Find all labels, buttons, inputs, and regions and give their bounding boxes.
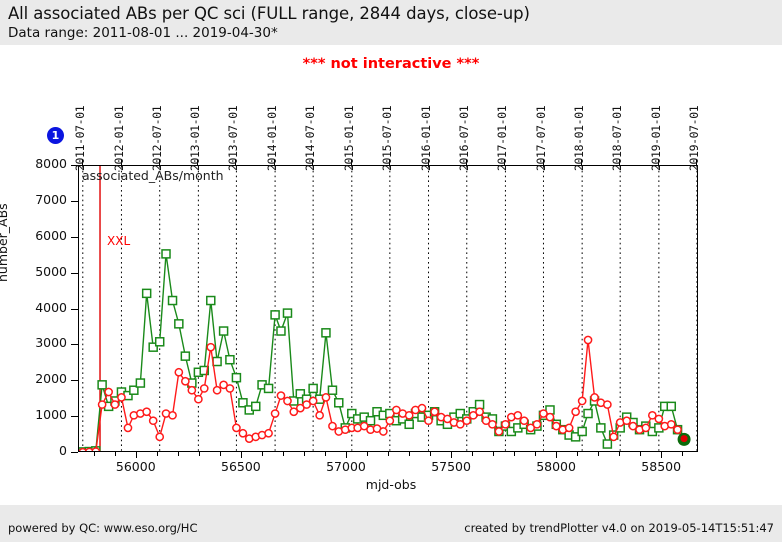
data-point-marker	[150, 417, 157, 424]
page-subtitle: Data range: 2011-08-01 ... 2019-04-30*	[8, 24, 782, 43]
data-point-marker	[118, 394, 125, 401]
x-axis-minor-tick	[367, 452, 368, 456]
data-point-marker	[169, 297, 177, 305]
y-axis-tick-label: 8000	[5, 156, 67, 171]
x-axis-tick-label: 58000	[516, 459, 596, 474]
x-axis-minor-tick	[262, 452, 263, 456]
data-point-marker	[604, 401, 611, 408]
last-point-highlight	[681, 435, 688, 442]
data-point-marker	[284, 397, 291, 404]
x-axis-minor-tick	[640, 452, 641, 456]
x-axis-minor-tick	[535, 452, 536, 456]
data-point-marker	[226, 356, 234, 364]
data-point-marker	[92, 448, 99, 451]
footer-credit-right: created by trendPlotter v4.0 on 2019-05-…	[464, 521, 774, 535]
top-axis-date-label: 2013-07-01	[226, 106, 240, 171]
data-point-marker	[591, 394, 598, 401]
data-point-marker	[195, 396, 202, 403]
data-point-marker	[271, 410, 278, 417]
data-point-marker	[310, 397, 317, 404]
data-point-marker	[335, 399, 343, 407]
data-point-marker	[239, 430, 246, 437]
y-axis-tick-label: 0	[5, 443, 67, 458]
data-point-marker	[169, 412, 176, 419]
top-axis-date-label: 2016-01-01	[419, 106, 433, 171]
x-axis-minor-tick	[409, 452, 410, 456]
data-point-marker	[322, 329, 330, 337]
plot-canvas	[79, 166, 697, 451]
data-point-marker	[533, 421, 540, 428]
top-axis-date-label: 2017-07-01	[534, 106, 548, 171]
data-point-marker	[584, 336, 591, 343]
data-point-marker	[674, 426, 681, 433]
y-axis-tick-label: 2000	[5, 371, 67, 386]
data-point-marker	[578, 427, 586, 435]
x-axis-minor-tick	[178, 452, 179, 456]
data-point-marker	[642, 424, 649, 431]
data-point-marker	[213, 387, 220, 394]
data-point-marker	[316, 412, 323, 419]
data-point-marker	[226, 385, 233, 392]
x-axis-tick	[451, 452, 452, 458]
data-point-marker	[380, 428, 387, 435]
plot-frame	[78, 165, 698, 452]
data-point-marker	[476, 401, 484, 409]
data-point-marker	[367, 417, 375, 425]
data-point-marker	[124, 424, 131, 431]
y-axis-tick	[71, 416, 78, 417]
data-point-marker	[233, 424, 240, 431]
x-axis-tick-label: 57000	[306, 459, 386, 474]
x-axis-minor-tick	[472, 452, 473, 456]
y-axis-tick	[71, 201, 78, 202]
data-point-marker	[668, 421, 675, 428]
y-axis-tick-label: 3000	[5, 335, 67, 350]
top-axis-date-label: 2012-01-01	[112, 106, 126, 171]
x-axis-minor-tick	[283, 452, 284, 456]
y-axis-tick-label: 4000	[5, 300, 67, 315]
data-point-marker	[283, 309, 291, 317]
x-axis-minor-tick	[598, 452, 599, 456]
y-axis-tick-label: 7000	[5, 192, 67, 207]
data-point-marker	[188, 387, 195, 394]
top-axis-date-label: 2014-07-01	[303, 106, 317, 171]
data-point-marker	[265, 430, 272, 437]
top-axis-date-label: 2014-01-01	[265, 106, 279, 171]
data-point-marker	[175, 369, 182, 376]
x-axis-title: mjd-obs	[0, 477, 782, 492]
not-interactive-notice: *** not interactive ***	[0, 56, 782, 72]
data-point-marker	[111, 401, 118, 408]
data-point-marker	[213, 358, 221, 366]
data-point-marker	[143, 289, 151, 297]
page-title: All associated ABs per QC sci (FULL rang…	[8, 3, 782, 24]
x-axis-minor-tick	[514, 452, 515, 456]
data-point-marker	[667, 402, 675, 410]
data-point-marker	[566, 424, 573, 431]
x-axis-tick-label: 57500	[411, 459, 491, 474]
x-axis-minor-tick	[682, 452, 683, 456]
data-point-marker	[99, 401, 106, 408]
x-axis-minor-tick	[220, 452, 221, 456]
data-point-marker	[514, 412, 521, 419]
y-axis-tick-label: 5000	[5, 264, 67, 279]
data-point-marker	[156, 433, 163, 440]
page-footer: powered by QC: www.eso.org/HC created by…	[0, 505, 782, 542]
data-point-marker	[105, 388, 112, 395]
y-axis-tick-label: 6000	[5, 228, 67, 243]
data-point-marker	[476, 408, 483, 415]
data-point-marker	[610, 433, 617, 440]
data-point-marker	[220, 327, 228, 335]
data-point-marker	[175, 320, 183, 328]
x-axis-tick	[241, 452, 242, 458]
data-point-marker	[405, 420, 413, 428]
x-axis-tick-label: 56500	[201, 459, 281, 474]
data-point-marker	[418, 405, 425, 412]
annotation-label-xxl: XXL	[107, 234, 130, 248]
x-axis-minor-tick	[157, 452, 158, 456]
data-point-marker	[597, 424, 605, 432]
x-axis-tick	[346, 452, 347, 458]
plot-index-badge: 1	[47, 127, 64, 144]
top-axis-date-label: 2019-01-01	[649, 106, 663, 171]
x-axis-minor-tick	[325, 452, 326, 456]
x-axis-minor-tick	[304, 452, 305, 456]
x-axis-minor-tick	[199, 452, 200, 456]
series-line-0	[83, 254, 684, 451]
data-point-marker	[425, 417, 432, 424]
data-point-marker	[546, 414, 553, 421]
top-axis-date-label: 2013-01-01	[188, 106, 202, 171]
top-axis-date-label: 2015-01-01	[342, 106, 356, 171]
data-point-marker	[136, 379, 144, 387]
top-axis-date-label: 2018-07-01	[610, 106, 624, 171]
data-point-marker	[207, 297, 215, 305]
data-point-marker	[277, 392, 284, 399]
data-point-marker	[98, 381, 106, 389]
top-axis-date-label: 2016-07-01	[457, 106, 471, 171]
series-label: associated_ABs/month	[82, 168, 224, 183]
data-point-marker	[271, 311, 279, 319]
y-axis-tick	[71, 452, 78, 453]
x-axis-minor-tick	[619, 452, 620, 456]
data-point-marker	[329, 422, 336, 429]
data-point-marker	[584, 410, 592, 418]
data-point-marker	[182, 378, 189, 385]
data-point-marker	[603, 440, 611, 448]
data-point-marker	[521, 417, 528, 424]
data-point-marker	[579, 397, 586, 404]
data-point-marker	[162, 250, 170, 258]
x-axis-tick-label: 58500	[621, 459, 701, 474]
data-point-marker	[201, 385, 208, 392]
x-axis-minor-tick	[430, 452, 431, 456]
data-point-marker	[489, 421, 496, 428]
y-axis-tick	[71, 344, 78, 345]
data-point-marker	[265, 384, 273, 392]
x-axis-tick	[136, 452, 137, 458]
top-axis-date-label: 2015-07-01	[380, 106, 394, 171]
data-point-marker	[181, 352, 189, 360]
x-axis-minor-tick	[388, 452, 389, 456]
data-point-marker	[207, 344, 214, 351]
data-point-marker	[232, 374, 240, 382]
data-point-marker	[309, 384, 317, 392]
data-point-marker	[655, 415, 662, 422]
data-point-marker	[277, 327, 285, 335]
x-axis-minor-tick	[577, 452, 578, 456]
x-axis-minor-tick	[94, 452, 95, 456]
y-axis-tick-label: 1000	[5, 407, 67, 422]
x-axis-tick	[661, 452, 662, 458]
x-axis-minor-tick	[493, 452, 494, 456]
footer-credit-left: powered by QC: www.eso.org/HC	[8, 521, 197, 535]
x-axis-tick-label: 56000	[96, 459, 176, 474]
data-point-marker	[495, 428, 502, 435]
page-header: All associated ABs per QC sci (FULL rang…	[0, 0, 782, 45]
plot-inner	[79, 166, 697, 451]
top-axis-date-label: 2011-07-01	[73, 106, 87, 171]
top-axis-date-label: 2017-01-01	[495, 106, 509, 171]
data-point-marker	[406, 412, 413, 419]
data-point-marker	[572, 408, 579, 415]
x-axis-tick	[556, 452, 557, 458]
data-point-marker	[156, 338, 164, 346]
top-axis-date-label: 2019-07-01	[687, 106, 701, 171]
top-axis-date-label: 2012-07-01	[150, 106, 164, 171]
data-point-marker	[502, 421, 509, 428]
data-point-marker	[623, 417, 630, 424]
data-point-marker	[322, 394, 329, 401]
data-point-marker	[252, 402, 260, 410]
data-point-marker	[328, 386, 336, 394]
y-axis-tick	[71, 309, 78, 310]
data-point-marker	[431, 408, 438, 415]
data-point-marker	[463, 417, 470, 424]
y-axis-tick	[71, 237, 78, 238]
top-axis-date-label: 2018-01-01	[572, 106, 586, 171]
data-point-marker	[143, 408, 150, 415]
y-axis-tick	[71, 273, 78, 274]
x-axis-minor-tick	[115, 452, 116, 456]
data-point-marker	[386, 417, 393, 424]
y-axis-tick	[71, 380, 78, 381]
